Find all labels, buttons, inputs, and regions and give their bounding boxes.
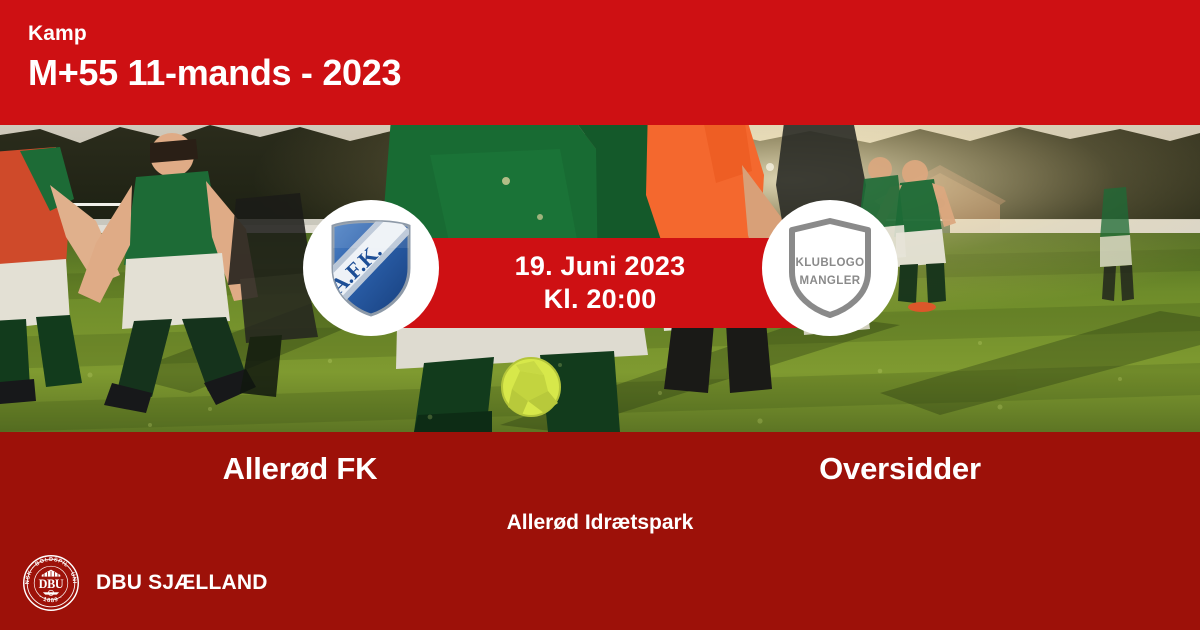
home-team-logo: A.F.K. xyxy=(303,200,439,336)
poster-footer-band: Allerød FK Oversidder Allerød Idrætspark… xyxy=(0,432,1200,630)
match-datetime-banner: 19. Juni 2023 Kl. 20:00 xyxy=(370,238,830,328)
dbu-emblem-icon: DANSK · BOLDSPIL · UNION · 1889 · DBU xyxy=(22,554,80,612)
match-time: Kl. 20:00 xyxy=(544,283,657,316)
match-date: 19. Juni 2023 xyxy=(515,250,686,283)
away-logo-line2: MANGLER xyxy=(800,275,861,287)
away-team-name: Oversidder xyxy=(600,449,1200,489)
page-title: M+55 11-mands - 2023 xyxy=(28,50,1200,96)
match-venue: Allerød Idrætspark xyxy=(0,510,1200,536)
away-logo-line1: KLUBLOGO xyxy=(796,257,865,269)
away-team-logo: KLUBLOGO MANGLER xyxy=(762,200,898,336)
poster-header: Kamp M+55 11-mands - 2023 xyxy=(0,0,1200,125)
organization-name: DBU SJÆLLAND xyxy=(96,571,268,595)
organization-footer: DANSK · BOLDSPIL · UNION · 1889 · DBU DB… xyxy=(22,554,268,612)
match-poster: Kamp M+55 11-mands - 2023 xyxy=(0,0,1200,630)
team-names-row: Allerød FK Oversidder xyxy=(0,449,1200,489)
svg-text:DBU: DBU xyxy=(39,577,64,591)
header-kicker: Kamp xyxy=(28,22,1200,46)
home-team-name: Allerød FK xyxy=(0,449,600,489)
